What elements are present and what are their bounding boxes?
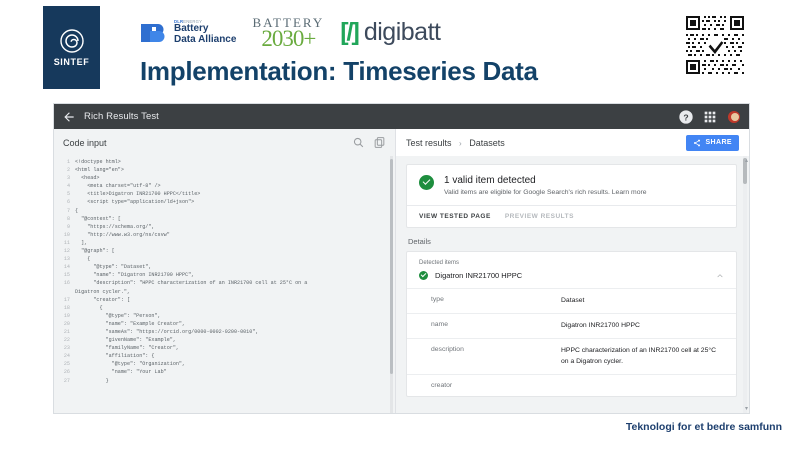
code-line-number: 8	[58, 215, 75, 223]
validation-subtitle: Valid items are eligible for Google Sear…	[444, 189, 647, 196]
code-line-text: "@type": "Dataset",	[75, 263, 395, 271]
code-scrollbar-thumb[interactable]	[390, 159, 393, 374]
scroll-up-arrow[interactable]: ▴	[745, 157, 748, 164]
property-key: description	[431, 346, 551, 366]
preview-results-button[interactable]: PREVIEW RESULTS	[505, 213, 574, 220]
code-line-number: 7	[58, 207, 75, 215]
code-line: 27 }	[58, 377, 395, 385]
code-line: 16 "description": "HPPC characterization…	[58, 279, 395, 287]
sintef-wordmark: SINTEF	[54, 57, 90, 67]
validation-status-card: 1 valid item detected Valid items are el…	[406, 164, 737, 228]
code-line-number: 14	[58, 263, 75, 271]
code-line-text: ],	[75, 239, 395, 247]
detected-item-name: Digatron INR21700 HPPC	[435, 271, 522, 280]
code-line-text: "@context": [	[75, 215, 395, 223]
code-line-number: 17	[58, 296, 75, 304]
property-row: nameDigatron INR21700 HPPC	[407, 313, 736, 338]
qr-code	[684, 10, 746, 80]
property-value: Digatron INR21700 HPPC	[561, 321, 640, 331]
code-input-header: Code input	[54, 129, 395, 156]
code-line-number: 15	[58, 271, 75, 279]
search-icon[interactable]	[352, 136, 365, 149]
app-title: Rich Results Test	[84, 111, 159, 122]
code-line: 10 "http://www.w3.org/ns/csvw"	[58, 231, 395, 239]
code-line-number: 6	[58, 198, 75, 206]
code-line-text: {	[75, 255, 395, 263]
code-line: 11 ],	[58, 239, 395, 247]
scroll-down-arrow[interactable]: ▾	[745, 405, 748, 412]
code-line: 5 <title>Digatron INR21700 HPPC</title>	[58, 190, 395, 198]
code-line-text: <html lang="en">	[75, 166, 395, 174]
code-line-text: Digatron cycler.",	[75, 288, 395, 296]
code-line-text: "familyName": "Creator",	[75, 344, 395, 352]
code-line-text: "name": "Example Creator",	[75, 320, 395, 328]
code-line-text: }	[75, 377, 395, 385]
code-line-text: "@graph": [	[75, 247, 395, 255]
battery2030-logo: BATTERY 2030+	[252, 16, 324, 50]
code-line-text: <head>	[75, 174, 395, 182]
sintef-spiral-icon	[60, 29, 84, 53]
code-line: 3 <head>	[58, 174, 395, 182]
share-button[interactable]: SHARE	[686, 135, 739, 151]
copy-icon[interactable]	[373, 136, 386, 149]
code-line-text: "https://schema.org/",	[75, 223, 395, 231]
code-line-text: <title>Digatron INR21700 HPPC</title>	[75, 190, 395, 198]
code-line: 4 <meta charset="utf-8" />	[58, 182, 395, 190]
share-label: SHARE	[705, 139, 732, 146]
code-line-text: {	[75, 304, 395, 312]
code-line: 21 "sameAs": "https://orcid.org/0000-000…	[58, 328, 395, 336]
digibatt-wordmark: digibatt	[364, 18, 441, 47]
chevron-up-icon[interactable]	[716, 272, 724, 280]
code-line-number: 10	[58, 231, 75, 239]
code-line-number: 11	[58, 239, 75, 247]
code-line-number: 24	[58, 352, 75, 360]
check-circle-icon	[419, 271, 428, 280]
arrow-left-icon[interactable]	[62, 110, 76, 124]
code-line: 19 "@type": "Person",	[58, 312, 395, 320]
details-label: Details	[408, 237, 737, 246]
panes: Code input 1<!doctype html>2<html lang="…	[54, 129, 749, 413]
help-icon[interactable]: ?	[678, 109, 694, 125]
code-line-text: "name": "Your Lab"	[75, 368, 395, 376]
code-line: 24 "affiliation": {	[58, 352, 395, 360]
code-line-number: 2	[58, 166, 75, 174]
partner-logo-row: DLRENERGY Battery Data Alliance BATTERY …	[140, 10, 440, 55]
code-line-number: 16	[58, 279, 75, 287]
property-value: HPPC characterization of an INR21700 cel…	[561, 346, 724, 366]
code-line: 12 "@graph": [	[58, 247, 395, 255]
code-body[interactable]: 1<!doctype html>2<html lang="en">3 <head…	[54, 158, 395, 385]
code-line-number: 1	[58, 158, 75, 166]
property-key: type	[431, 296, 551, 306]
app-bar: Rich Results Test ?	[54, 104, 749, 129]
code-line-number: 25	[58, 360, 75, 368]
results-scrollbar-track[interactable]	[743, 156, 747, 413]
code-line-text: "creator": [	[75, 296, 395, 304]
detected-items-label: Detected items	[407, 252, 736, 271]
code-line-text: "http://www.w3.org/ns/csvw"	[75, 231, 395, 239]
property-row: descriptionHPPC characterization of an I…	[407, 338, 736, 373]
code-line: 17 "creator": [	[58, 296, 395, 304]
breadcrumb-root[interactable]: Test results	[406, 138, 452, 148]
code-line: 8 "@context": [	[58, 215, 395, 223]
share-icon	[693, 139, 701, 147]
check-circle-icon	[419, 175, 434, 190]
browser-window: Rich Results Test ? Code input	[53, 103, 750, 414]
results-header: Test results › Datasets SHARE	[396, 129, 749, 156]
code-line-text: "affiliation": {	[75, 352, 395, 360]
code-line-number: 19	[58, 312, 75, 320]
code-line-text: <!doctype html>	[75, 158, 395, 166]
code-line-text: "description": "HPPC characterization of…	[75, 279, 395, 287]
code-line: 15 "name": "Digatron INR21700 HPPC",	[58, 271, 395, 279]
code-line-number: 12	[58, 247, 75, 255]
breadcrumb: Test results › Datasets	[406, 138, 505, 148]
code-line-number: 18	[58, 304, 75, 312]
code-line: 26 "name": "Your Lab"	[58, 368, 395, 376]
property-key: creator	[431, 382, 551, 389]
code-line-text: {	[75, 207, 395, 215]
code-line: 1<!doctype html>	[58, 158, 395, 166]
code-line-number: 20	[58, 320, 75, 328]
breadcrumb-current: Datasets	[469, 138, 505, 148]
code-line: 14 "@type": "Dataset",	[58, 263, 395, 271]
property-rows: typeDatasetnameDigatron INR21700 HPPCdes…	[407, 288, 736, 396]
code-line-number: 26	[58, 368, 75, 376]
code-line: 18 {	[58, 304, 395, 312]
breadcrumb-separator: ›	[459, 139, 462, 148]
code-line: 2<html lang="en">	[58, 166, 395, 174]
footer-tagline: Teknologi for et bedre samfunn	[626, 421, 782, 433]
qr-code-icon	[684, 10, 746, 80]
code-line: 20 "name": "Example Creator",	[58, 320, 395, 328]
property-key: name	[431, 321, 551, 331]
property-row: creator	[407, 374, 736, 396]
code-line: 23 "familyName": "Creator",	[58, 344, 395, 352]
code-line-text: "@type": "Organization",	[75, 360, 395, 368]
code-line: 13 {	[58, 255, 395, 263]
sintef-logo: SINTEF	[43, 6, 100, 89]
apps-grid-icon[interactable]	[702, 109, 718, 125]
results-pane: Test results › Datasets SHARE	[396, 129, 749, 413]
slide-root: SINTEF DLRENERGY Battery Data Alliance B…	[0, 0, 800, 450]
code-line-number: 9	[58, 223, 75, 231]
details-card: Detected items Digatron INR21700 HPPC ty…	[406, 251, 737, 397]
battery2030-bottom-text: 2030+	[252, 27, 324, 50]
code-line-text: "sameAs": "https://orcid.org/0000-0002-0…	[75, 328, 395, 336]
code-line-number: 3	[58, 174, 75, 182]
validation-title: 1 valid item detected	[444, 175, 647, 186]
code-line-number: 22	[58, 336, 75, 344]
property-row: typeDataset	[407, 288, 736, 313]
bda-line2: Data Alliance	[174, 35, 236, 45]
code-line: 22 "givenName": "Example",	[58, 336, 395, 344]
code-input-label: Code input	[63, 138, 107, 148]
page-title: Implementation: Timeseries Data	[140, 56, 538, 87]
code-editor[interactable]: 1<!doctype html>2<html lang="en">3 <head…	[54, 156, 395, 413]
digibatt-logo: [/] digibatt	[340, 18, 440, 47]
code-line: 9 "https://schema.org/",	[58, 223, 395, 231]
view-tested-page-button[interactable]: VIEW TESTED PAGE	[419, 213, 491, 220]
code-line-number: 23	[58, 344, 75, 352]
bda-mark-icon	[140, 18, 170, 48]
code-line-number: 13	[58, 255, 75, 263]
code-line-text: "@type": "Person",	[75, 312, 395, 320]
results-scroll-area[interactable]: 1 valid item detected Valid items are el…	[396, 156, 749, 413]
code-line-text: <meta charset="utf-8" />	[75, 182, 395, 190]
code-input-pane: Code input 1<!doctype html>2<html lang="…	[54, 129, 396, 413]
code-line-text: "givenName": "Example",	[75, 336, 395, 344]
detected-item-row[interactable]: Digatron INR21700 HPPC	[407, 271, 736, 288]
code-line-number: 21	[58, 328, 75, 336]
code-line: 25 "@type": "Organization",	[58, 360, 395, 368]
property-value: Dataset	[561, 296, 584, 306]
code-line-text: "name": "Digatron INR21700 HPPC",	[75, 271, 395, 279]
code-line: 7{	[58, 207, 395, 215]
code-line: Digatron cycler.",	[58, 288, 395, 296]
svg-text:?: ?	[683, 112, 688, 122]
code-line-number	[58, 288, 75, 296]
code-line-number: 5	[58, 190, 75, 198]
digibatt-bracket-icon: [/]	[340, 18, 358, 47]
code-line: 6 <script type="application/ld+json">	[58, 198, 395, 206]
code-line-text: <script type="application/ld+json">	[75, 198, 395, 206]
code-line-number: 4	[58, 182, 75, 190]
battery-data-alliance-logo: DLRENERGY Battery Data Alliance	[140, 18, 236, 48]
avatar[interactable]	[727, 110, 741, 124]
code-line-number: 27	[58, 377, 75, 385]
